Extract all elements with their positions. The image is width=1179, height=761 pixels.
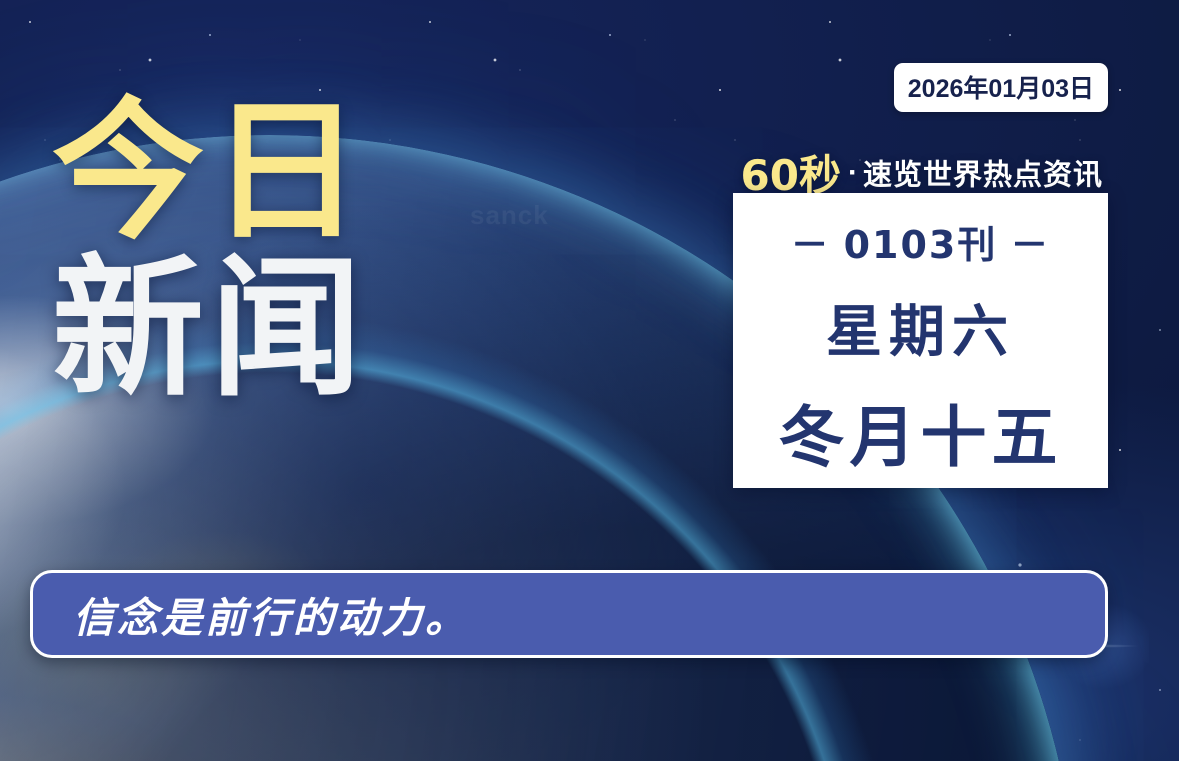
quote-bar: 信念是前行的动力。 [30,570,1108,658]
page-title-line-1: 今日 [52,98,368,247]
quote-text: 信念是前行的动力。 [73,584,469,644]
news-poster: sanck 今日 新闻 2026年01月03日 60秒·速览世界热点资讯 －01… [0,0,1179,761]
dash-left: － [791,223,831,267]
tagline-description: 速览世界热点资讯 [863,160,1103,192]
info-card: －0103刊－ 星期六 冬月十五 [733,193,1108,488]
issue-number-row: －0103刊－ [778,214,1064,269]
tagline-separator-dot: · [848,156,858,189]
date-badge: 2026年01月03日 [894,63,1108,112]
dash-right: － [1010,223,1050,267]
weekday-label: 星期六 [826,287,1015,368]
lunar-date-label: 冬月十五 [779,384,1063,480]
issue-number: 0103刊 [844,223,998,267]
page-title-line-2: 新闻 [52,255,368,404]
background-watermark: sanck [470,200,549,231]
poster-title: 今日 新闻 [52,98,368,404]
